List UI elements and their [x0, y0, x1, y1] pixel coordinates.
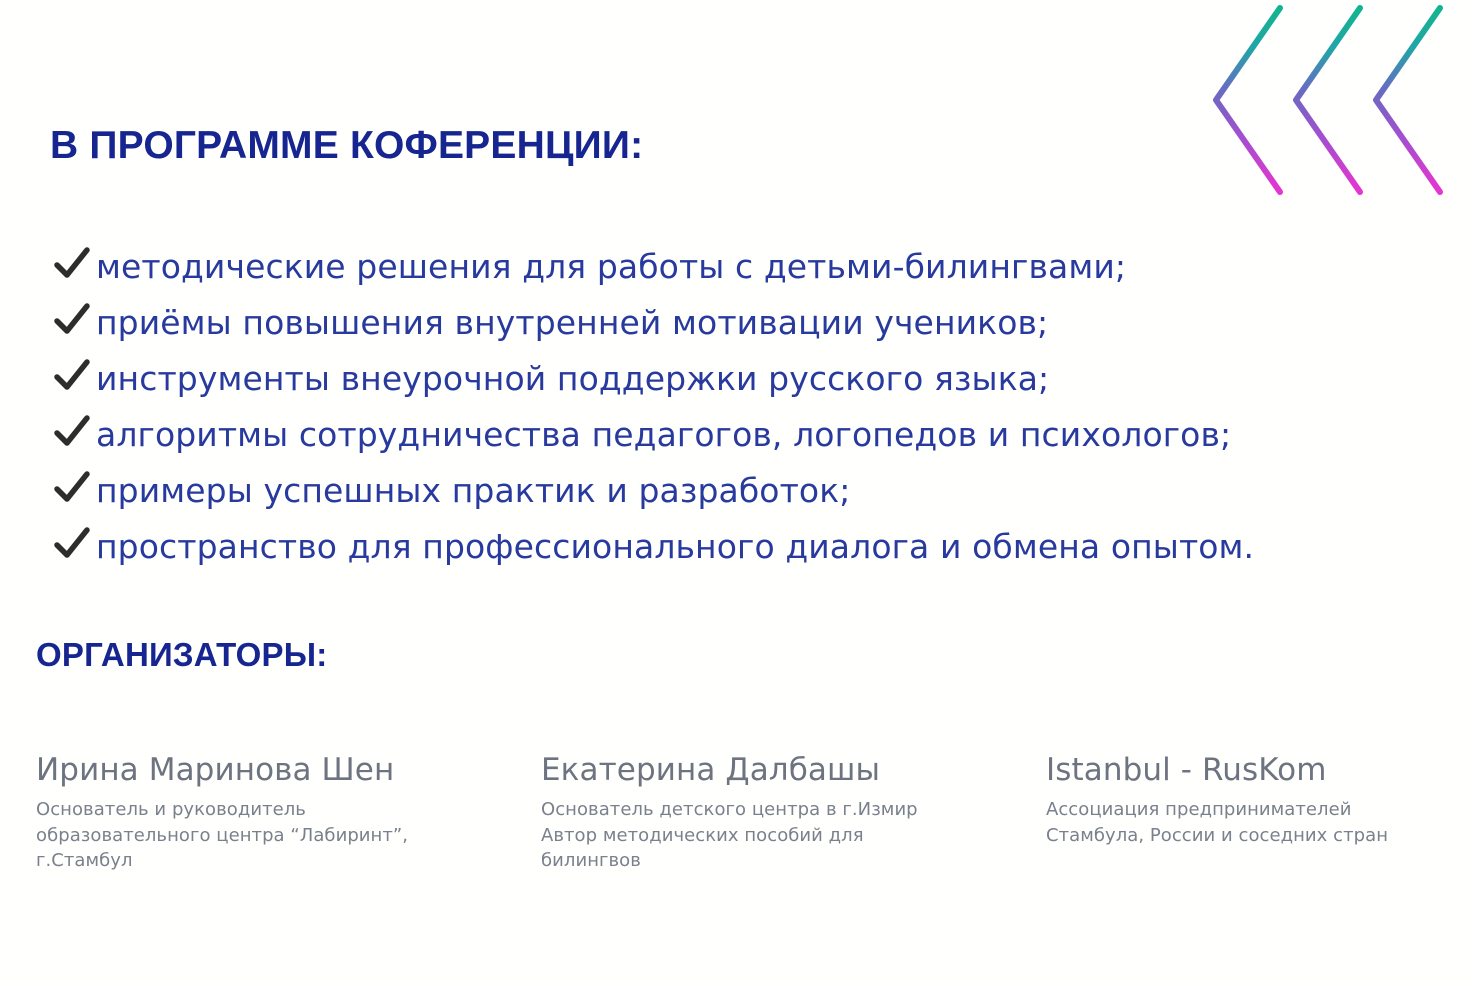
chevron-decor — [1192, 0, 1474, 227]
list-item-label: методические решения для работы с детьми… — [96, 239, 1126, 295]
list-item: пространство для профессионального диало… — [52, 518, 1452, 574]
organizer-description: Основатель детского центра в г.Измир Авт… — [541, 797, 1032, 874]
check-icon — [52, 468, 92, 508]
list-item: алгоритмы сотрудничества педагогов, лого… — [52, 406, 1452, 462]
list-item: инструменты внеурочной поддержки русског… — [52, 350, 1452, 406]
list-item-label: инструменты внеурочной поддержки русског… — [96, 351, 1049, 407]
organizers-row: Ирина Маринова Шен Основатель и руководи… — [36, 752, 1466, 874]
chevron-icon-1 — [1216, 8, 1280, 192]
list-item: приёмы повышения внутренней мотивации уч… — [52, 294, 1452, 350]
chevron-icon-2 — [1296, 8, 1360, 192]
list-item: методические решения для работы с детьми… — [52, 238, 1452, 294]
check-icon — [52, 524, 92, 564]
check-icon — [52, 244, 92, 284]
organizer-card: Istanbul - RusKom Ассоциация предпринима… — [1046, 752, 1466, 848]
check-icon — [52, 356, 92, 396]
list-item: примеры успешных практик и разработок; — [52, 462, 1452, 518]
organizer-name: Ирина Маринова Шен — [36, 752, 527, 788]
list-item-label: алгоритмы сотрудничества педагогов, лого… — [96, 407, 1231, 463]
chevron-icon-3 — [1376, 8, 1440, 192]
organizer-name: Екатерина Далбашы — [541, 752, 1032, 788]
list-item-label: пространство для профессионального диало… — [96, 519, 1254, 575]
slide-canvas: В ПРОГРАММЕ КОФЕРЕНЦИИ: методические реш… — [0, 0, 1474, 983]
list-item-label: примеры успешных практик и разработок; — [96, 463, 850, 519]
program-list: методические решения для работы с детьми… — [52, 238, 1452, 574]
organizer-name: Istanbul - RusKom — [1046, 752, 1466, 788]
organizer-description: Основатель и руководитель образовательно… — [36, 797, 527, 874]
check-icon — [52, 300, 92, 340]
organizers-title: ОРГАНИЗАТОРЫ: — [36, 636, 327, 674]
organizer-card: Ирина Маринова Шен Основатель и руководи… — [36, 752, 541, 874]
organizer-description: Ассоциация предпринимателей Стамбула, Ро… — [1046, 797, 1466, 848]
program-title: В ПРОГРАММЕ КОФЕРЕНЦИИ: — [50, 124, 643, 168]
list-item-label: приёмы повышения внутренней мотивации уч… — [96, 295, 1048, 351]
organizer-card: Екатерина Далбашы Основатель детского це… — [541, 752, 1046, 874]
check-icon — [52, 412, 92, 452]
